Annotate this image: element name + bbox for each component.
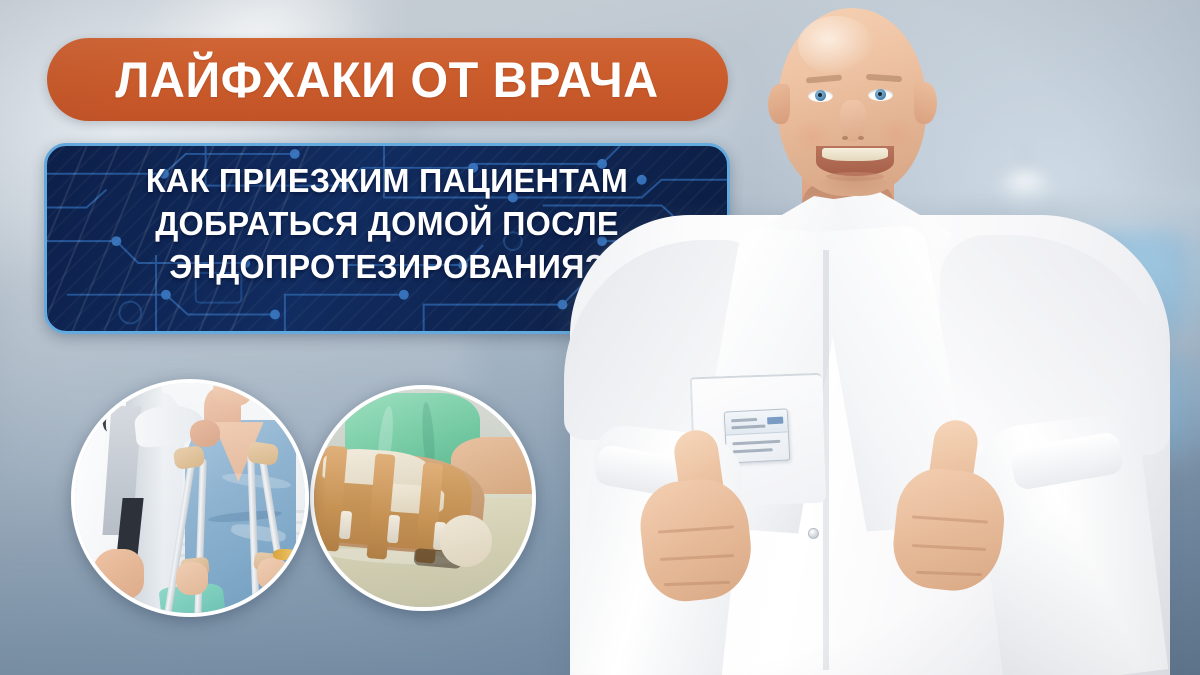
doctor-portrait (540, 0, 1200, 675)
thumbnail-canvas: ЛАЙФХАКИ ОТ ВРАЧА (0, 0, 1200, 675)
photo-patient-with-crutches (71, 379, 309, 617)
ear-right-icon (914, 82, 937, 124)
coat-button (808, 528, 819, 539)
ear-left-icon (768, 84, 790, 124)
photo-leg-in-orthopedic-brace (310, 385, 536, 611)
